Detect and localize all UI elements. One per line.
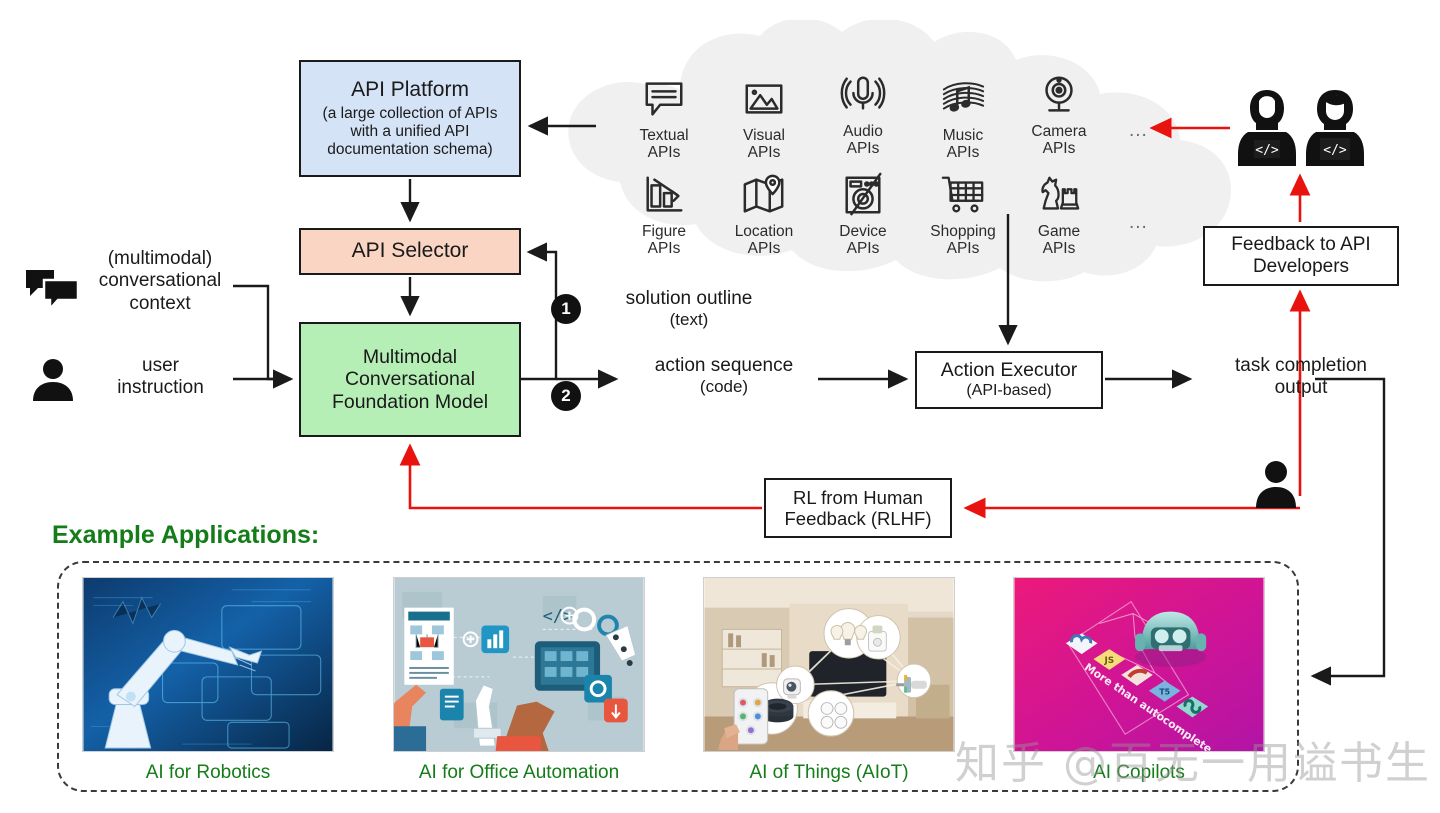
user-person-icon — [30, 357, 76, 403]
cloud-item-textual-apis[interactable]: Textual APIs — [616, 76, 712, 161]
context-line2: conversational — [60, 270, 260, 292]
svg-text:T5: T5 — [1159, 688, 1170, 697]
cloud-item-sublabel: APIs — [915, 144, 1011, 161]
api-platform-box[interactable]: API Platform (a large collection of APIs… — [299, 60, 521, 177]
robotics-thumbnail — [82, 577, 334, 752]
context-line3: context — [60, 293, 260, 315]
cloud-ellipsis-row1: ... — [1129, 120, 1148, 142]
user-instruction-label: user instruction — [78, 355, 243, 400]
task-completion-output-label: task completion output — [1196, 355, 1406, 400]
action-sequence-label: action sequence (code) — [624, 355, 824, 397]
copilots-thumbnail: More than autocomplete JS T5 — [1013, 577, 1265, 752]
step-2-badge: 2 — [551, 381, 581, 411]
example-card-aiot[interactable]: AI of Things (AIoT) — [703, 577, 955, 784]
shopping-apis-icon — [940, 172, 986, 218]
api-selector-title: API Selector — [352, 239, 469, 263]
rlhf-line1: RL from Human — [793, 487, 923, 508]
foundation-model-line1: Multimodal — [363, 346, 457, 369]
foundation-model-line2: Conversational — [345, 368, 475, 391]
svg-text:JS: JS — [1103, 656, 1114, 666]
device-apis-icon — [840, 172, 886, 218]
wire-task-output-to-examples — [1313, 379, 1384, 676]
api-platform-line3: documentation schema) — [327, 141, 492, 159]
solution-sub: (text) — [594, 310, 784, 330]
cloud-item-label: Game — [1011, 223, 1107, 240]
cloud-item-sublabel: APIs — [716, 144, 812, 161]
male-developer-icon: </> — [1302, 88, 1368, 168]
visual-apis-icon — [741, 76, 787, 122]
user-line1: user — [78, 355, 243, 377]
wire-rlhf-to-model — [410, 446, 762, 508]
cloud-item-camera-apis[interactable]: Camera APIs — [1011, 72, 1107, 157]
cloud-item-sublabel: APIs — [716, 240, 812, 257]
location-apis-icon — [741, 172, 787, 218]
user-line2: instruction — [78, 377, 243, 399]
feedback-line2: Developers — [1253, 256, 1349, 278]
aiot-thumbnail — [703, 577, 955, 752]
smart-home-iot-photo — [704, 578, 954, 751]
cloud-ellipsis-row2: ... — [1129, 212, 1148, 234]
rlhf-line2: Feedback (RLHF) — [784, 508, 931, 529]
figure-apis-icon — [641, 172, 687, 218]
music-apis-icon — [940, 76, 986, 122]
human-feedback-person-icon — [1254, 460, 1298, 508]
cloud-item-sublabel: APIs — [915, 240, 1011, 257]
rlhf-box[interactable]: RL from Human Feedback (RLHF) — [764, 478, 952, 538]
textual-apis-icon — [641, 76, 687, 122]
feedback-line1: Feedback to API — [1231, 234, 1370, 256]
cloud-item-label: Visual — [716, 127, 812, 144]
cloud-item-sublabel: APIs — [815, 240, 911, 257]
cloud-item-label: Device — [815, 223, 911, 240]
example-caption: AI of Things (AIoT) — [703, 762, 955, 784]
action-executor-subtitle: (API-based) — [966, 382, 1051, 401]
camera-apis-icon — [1036, 72, 1082, 118]
solution-main: solution outline — [594, 288, 784, 310]
cloud-item-sublabel: APIs — [1011, 240, 1107, 257]
example-applications-heading: Example Applications: — [52, 521, 319, 550]
example-caption: AI for Office Automation — [393, 762, 645, 784]
office-automation-illustration: </> — [394, 578, 644, 751]
example-card-office-automation[interactable]: </> AI for Office Automation — [393, 577, 645, 784]
solution-outline-label: solution outline (text) — [594, 288, 784, 330]
cloud-item-label: Shopping — [915, 223, 1011, 240]
cloud-item-music-apis[interactable]: Music APIs — [915, 76, 1011, 161]
cloud-item-audio-apis[interactable]: Audio APIs — [815, 72, 911, 157]
context-line1: (multimodal) — [60, 248, 260, 270]
task-line2: output — [1196, 377, 1406, 399]
step-1-badge: 1 — [551, 294, 581, 324]
wire-model-to-selector-loop — [521, 252, 556, 379]
svg-text:</>: </> — [1323, 143, 1347, 158]
cloud-item-label: Figure — [616, 223, 712, 240]
cloud-item-label: Camera — [1011, 123, 1107, 140]
cloud-item-visual-apis[interactable]: Visual APIs — [716, 76, 812, 161]
cloud-item-shopping-apis[interactable]: Shopping APIs — [915, 172, 1011, 257]
cloud-item-label: Music — [915, 127, 1011, 144]
foundation-model-line3: Foundation Model — [332, 391, 488, 414]
action-sub: (code) — [624, 377, 824, 397]
action-executor-title: Action Executor — [941, 359, 1078, 382]
cloud-item-game-apis[interactable]: Game APIs — [1011, 172, 1107, 257]
foundation-model-box[interactable]: Multimodal Conversational Foundation Mod… — [299, 322, 521, 437]
svg-text:</>: </> — [1255, 143, 1279, 158]
api-platform-line2: with a unified API — [351, 123, 470, 141]
cloud-item-label: Textual — [616, 127, 712, 144]
cloud-item-figure-apis[interactable]: Figure APIs — [616, 172, 712, 257]
cloud-item-label: Audio — [815, 123, 911, 140]
game-apis-icon — [1036, 172, 1082, 218]
cloud-item-label: Location — [716, 223, 812, 240]
api-selector-box[interactable]: API Selector — [299, 228, 521, 275]
conversational-context-label: (multimodal) conversational context — [60, 248, 260, 315]
female-developer-icon: </> — [1234, 88, 1300, 168]
cloud-item-sublabel: APIs — [616, 240, 712, 257]
cloud-item-sublabel: APIs — [1011, 140, 1107, 157]
cloud-item-sublabel: APIs — [616, 144, 712, 161]
action-executor-box[interactable]: Action Executor (API-based) — [915, 351, 1103, 409]
example-caption: AI for Robotics — [82, 762, 334, 784]
action-main: action sequence — [624, 355, 824, 377]
api-platform-line1: (a large collection of APIs — [323, 105, 498, 123]
example-card-robotics[interactable]: AI for Robotics — [82, 577, 334, 784]
watermark-text: 知乎 @百无一用谥书生 — [955, 727, 1431, 791]
cloud-item-sublabel: APIs — [815, 140, 911, 157]
api-platform-title: API Platform — [351, 78, 469, 102]
task-line1: task completion — [1196, 355, 1406, 377]
audio-apis-icon — [840, 72, 886, 118]
robot-arm-blue-photo — [83, 578, 333, 751]
cloud-item-location-apis[interactable]: Location APIs — [716, 172, 812, 257]
cloud-item-device-apis[interactable]: Device APIs — [815, 172, 911, 257]
feedback-to-developers-box[interactable]: Feedback to API Developers — [1203, 226, 1399, 286]
office-automation-thumbnail: </> — [393, 577, 645, 752]
ai-copilot-pink-graphic: More than autocomplete JS T5 — [1014, 578, 1264, 751]
diagram-canvas: Textual APIs Visual APIs Audio APIs — [0, 0, 1440, 813]
